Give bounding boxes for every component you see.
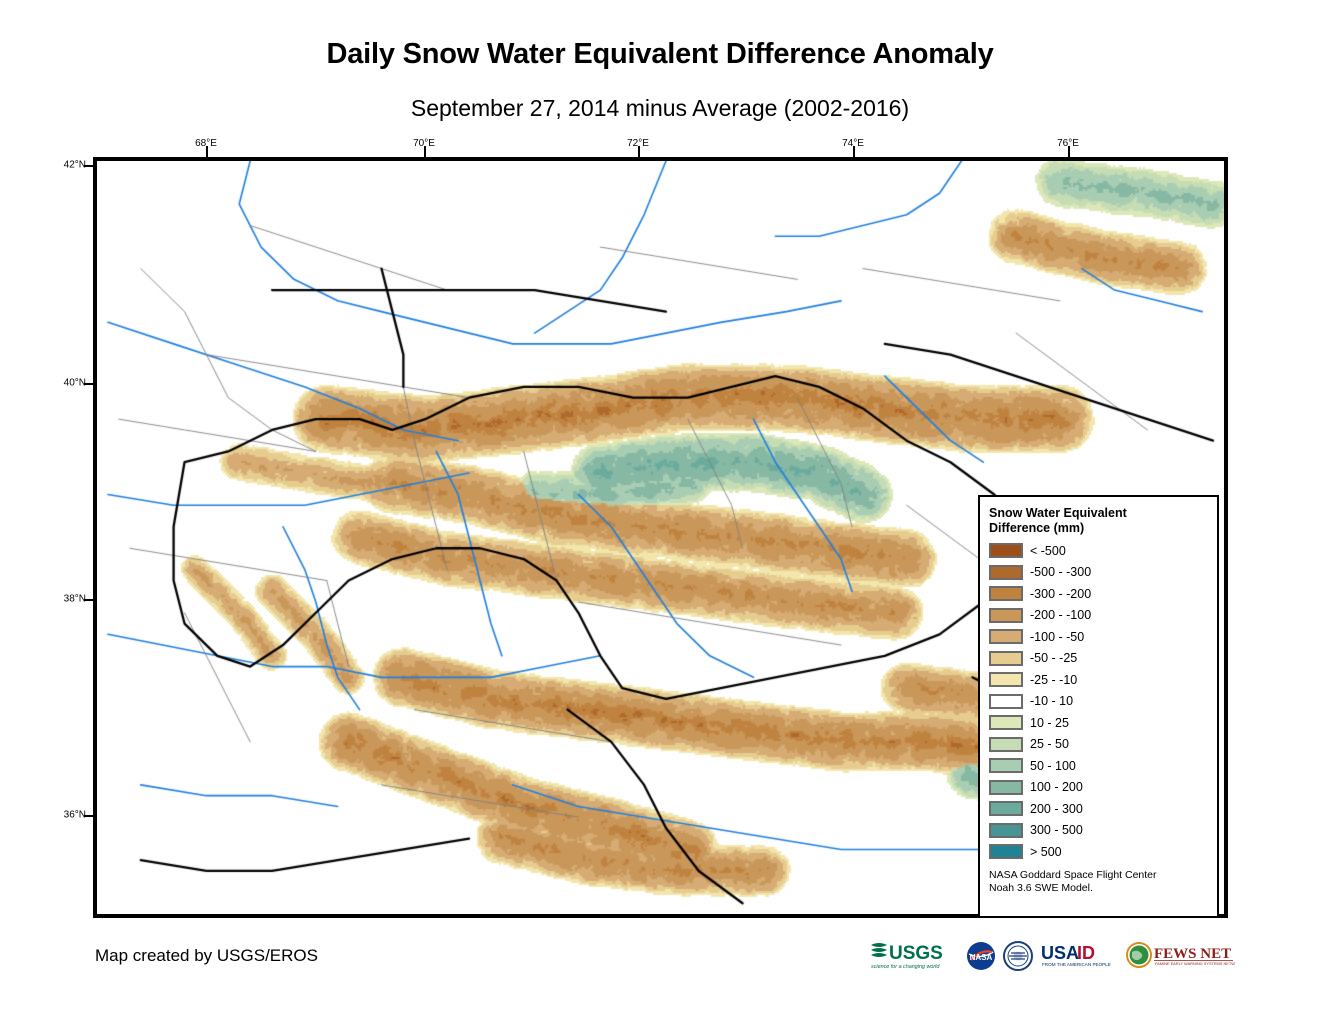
legend-color-swatch bbox=[989, 694, 1023, 709]
x-tick-label: 76°E bbox=[1057, 138, 1079, 149]
legend-entry: -500 - -300 bbox=[989, 562, 1217, 584]
fewsnet-logo: FEWS NET FAMINE EARLY WARNING SYSTEMS NE… bbox=[1125, 941, 1235, 971]
page-title: Daily Snow Water Equivalent Difference A… bbox=[0, 38, 1320, 71]
legend-entry: -25 - -10 bbox=[989, 669, 1217, 691]
legend-title: Snow Water Equivalent Difference (mm) bbox=[989, 506, 1199, 536]
y-tick-label: 38°N bbox=[58, 594, 86, 605]
svg-text:FAMINE EARLY WARNING SYSTEMS N: FAMINE EARLY WARNING SYSTEMS NETWORK bbox=[1155, 961, 1235, 966]
legend-color-swatch bbox=[989, 608, 1023, 623]
legend-entry: -200 - -100 bbox=[989, 605, 1217, 627]
legend-color-swatch bbox=[989, 543, 1023, 558]
legend-entry-list: < -500-500 - -300-300 - -200-200 - -100-… bbox=[989, 540, 1217, 863]
legend-entry-label: -50 - -25 bbox=[1030, 651, 1077, 665]
legend-title-line1: Snow Water Equivalent bbox=[989, 506, 1199, 521]
legend-color-swatch bbox=[989, 758, 1023, 773]
y-tick-label: 36°N bbox=[58, 810, 86, 821]
legend-entry: 200 - 300 bbox=[989, 798, 1217, 820]
svg-text:NASA: NASA bbox=[970, 953, 993, 962]
legend-entry: 100 - 200 bbox=[989, 777, 1217, 799]
legend-color-swatch bbox=[989, 629, 1023, 644]
legend-entry: -50 - -25 bbox=[989, 648, 1217, 670]
legend-entry: 50 - 100 bbox=[989, 755, 1217, 777]
legend-entry-label: 50 - 100 bbox=[1030, 759, 1076, 773]
legend-entry-label: 10 - 25 bbox=[1030, 716, 1069, 730]
legend-entry-label: 200 - 300 bbox=[1030, 802, 1083, 816]
svg-text:USA: USA bbox=[1041, 943, 1079, 963]
legend-color-swatch bbox=[989, 823, 1023, 838]
legend-entry-label: -500 - -300 bbox=[1030, 565, 1091, 579]
legend-source-line1: NASA Goddard Space Flight Center bbox=[989, 869, 1204, 882]
svg-text:science for a changing world: science for a changing world bbox=[871, 964, 940, 970]
legend-source-note: NASA Goddard Space Flight Center Noah 3.… bbox=[989, 869, 1204, 895]
legend-color-swatch bbox=[989, 715, 1023, 730]
nasa-logo: NASA bbox=[966, 941, 996, 971]
legend-entry-label: < -500 bbox=[1030, 544, 1066, 558]
legend-entry: -100 - -50 bbox=[989, 626, 1217, 648]
legend-entry-label: 300 - 500 bbox=[1030, 823, 1083, 837]
logo-bar: USGS science for a changing world NASA U… bbox=[869, 936, 1235, 976]
legend-entry-label: 100 - 200 bbox=[1030, 780, 1083, 794]
legend-color-swatch bbox=[989, 801, 1023, 816]
map-credit: Map created by USGS/EROS bbox=[95, 946, 318, 966]
legend-color-swatch bbox=[989, 780, 1023, 795]
legend-entry: 300 - 500 bbox=[989, 820, 1217, 842]
legend-color-swatch bbox=[989, 565, 1023, 580]
svg-text:FROM THE AMERICAN PEOPLE: FROM THE AMERICAN PEOPLE bbox=[1042, 962, 1111, 967]
map-legend: Snow Water Equivalent Difference (mm) < … bbox=[978, 495, 1219, 918]
legend-entry-label: > 500 bbox=[1030, 845, 1062, 859]
y-tick-label: 40°N bbox=[58, 378, 86, 389]
legend-entry: < -500 bbox=[989, 540, 1217, 562]
legend-entry: -10 - 10 bbox=[989, 691, 1217, 713]
page-subtitle: September 27, 2014 minus Average (2002-2… bbox=[0, 95, 1320, 122]
legend-title-line2: Difference (mm) bbox=[989, 521, 1199, 536]
svg-text:ID: ID bbox=[1077, 943, 1095, 963]
x-tick-label: 70°E bbox=[413, 138, 435, 149]
legend-entry-label: -200 - -100 bbox=[1030, 608, 1091, 622]
legend-entry: > 500 bbox=[989, 841, 1217, 863]
legend-color-swatch bbox=[989, 672, 1023, 687]
usgs-logo: USGS science for a changing world bbox=[869, 939, 959, 973]
legend-entry: 25 - 50 bbox=[989, 734, 1217, 756]
legend-entry-label: -25 - -10 bbox=[1030, 673, 1077, 687]
legend-color-swatch bbox=[989, 737, 1023, 752]
y-tick-label: 42°N bbox=[58, 160, 86, 171]
x-tick-label: 74°E bbox=[842, 138, 864, 149]
svg-text:FEWS NET: FEWS NET bbox=[1154, 946, 1231, 962]
legend-entry-label: -300 - -200 bbox=[1030, 587, 1091, 601]
legend-entry-label: 25 - 50 bbox=[1030, 737, 1069, 751]
legend-entry-label: -10 - 10 bbox=[1030, 694, 1073, 708]
x-tick-label: 72°E bbox=[627, 138, 649, 149]
noaa-seal-logo bbox=[1003, 941, 1033, 971]
legend-entry: 10 - 25 bbox=[989, 712, 1217, 734]
usaid-logo: USA ID FROM THE AMERICAN PEOPLE bbox=[1040, 941, 1118, 971]
legend-color-swatch bbox=[989, 586, 1023, 601]
legend-color-swatch bbox=[989, 651, 1023, 666]
legend-entry-label: -100 - -50 bbox=[1030, 630, 1084, 644]
legend-entry: -300 - -200 bbox=[989, 583, 1217, 605]
x-tick-label: 68°E bbox=[195, 138, 217, 149]
legend-source-line2: Noah 3.6 SWE Model. bbox=[989, 882, 1204, 895]
legend-color-swatch bbox=[989, 844, 1023, 859]
svg-text:USGS: USGS bbox=[889, 943, 943, 964]
